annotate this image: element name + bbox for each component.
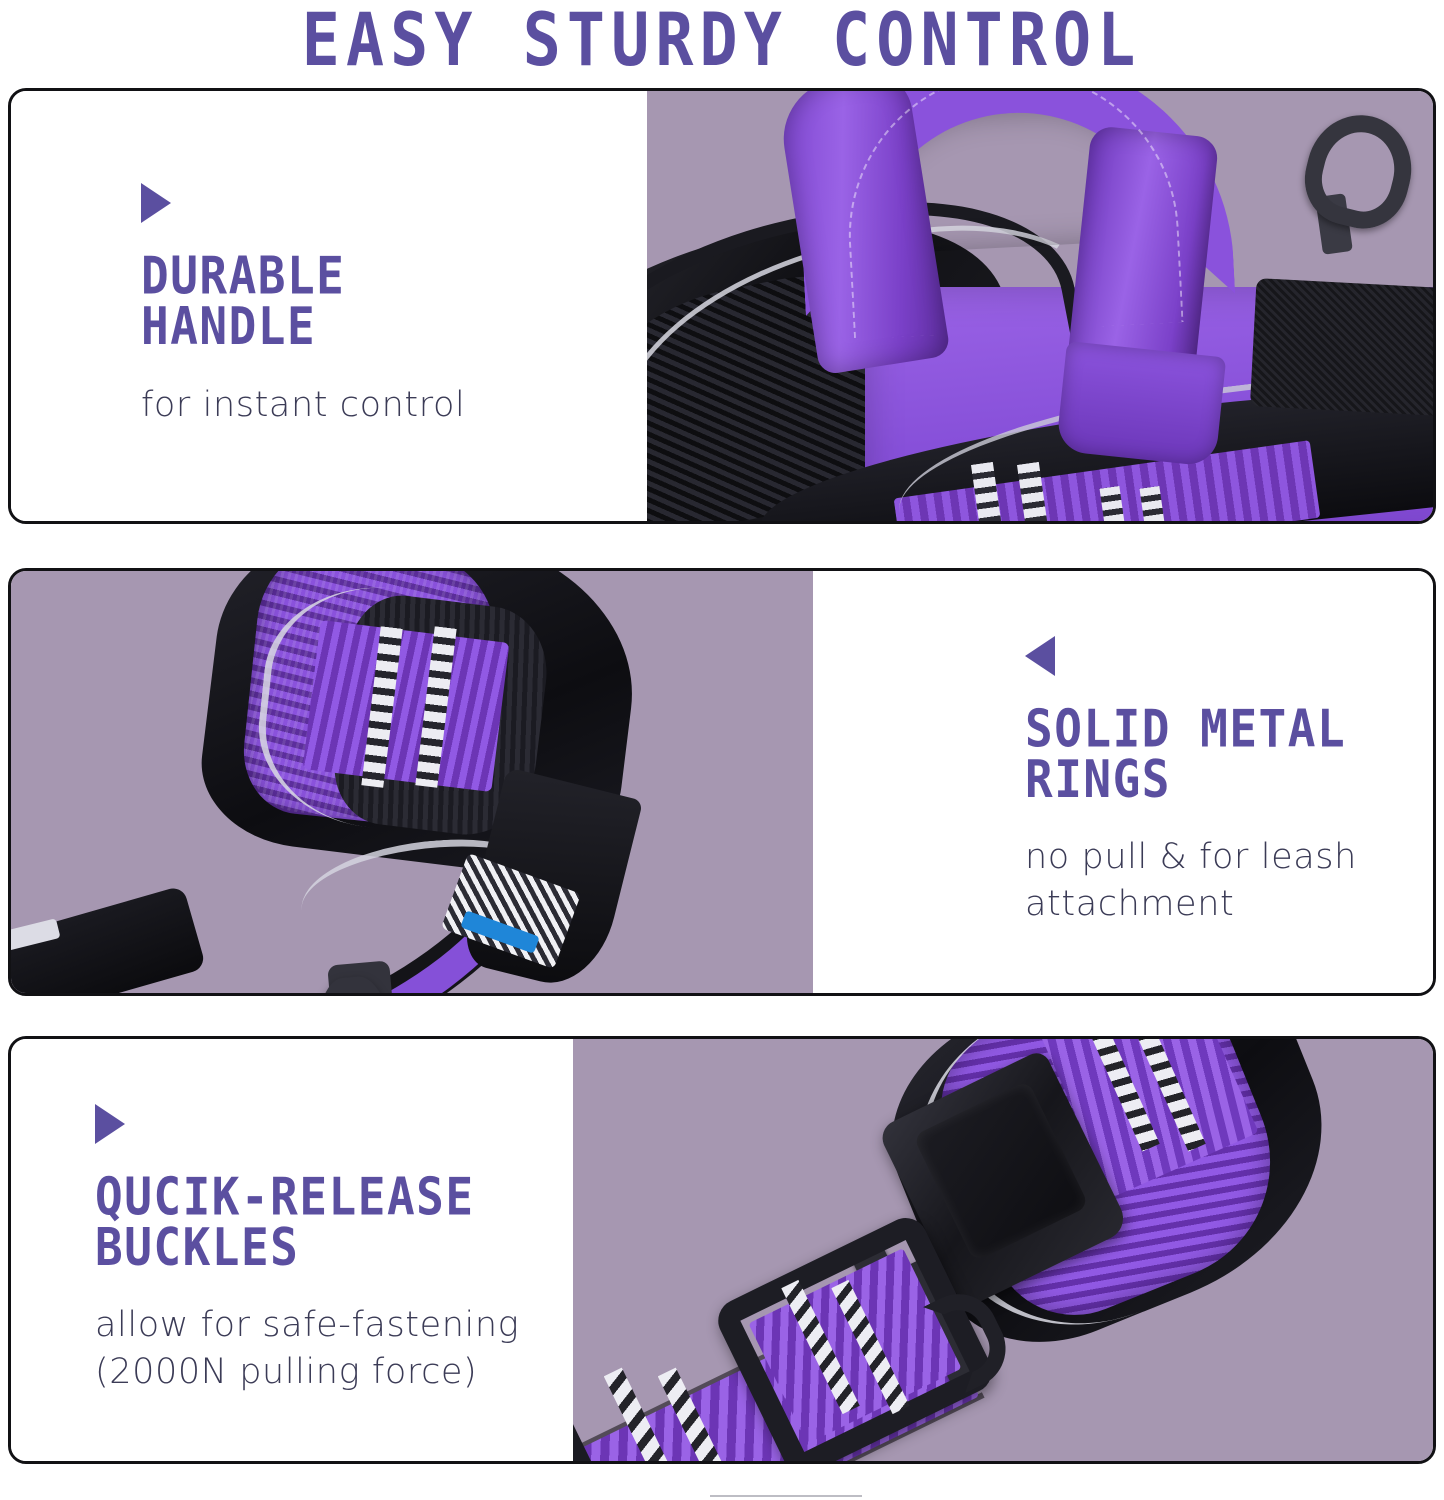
panel-3-headline: QUCIK-RELEASE BUCKLES [95,1172,573,1273]
panel-3-photo [573,1039,1433,1461]
feature-panel-quick-release-buckles: QUCIK-RELEASE BUCKLES allow for safe-fas… [8,1036,1436,1464]
panel-1-headline: DURABLE HANDLE [141,251,647,352]
panel-2-photo [11,571,813,993]
panel-1-photo [647,91,1433,521]
panel-1-subline: for instant control [141,382,647,429]
metal-d-ring-icon [1295,104,1423,238]
grab-handle-tab [1056,341,1227,467]
right-triangle-icon [141,183,171,223]
panel-1-text-block: DURABLE HANDLE for instant control [11,91,647,521]
feature-panel-solid-metal-rings: SOLID METAL RINGS no pull & for leash at… [8,568,1436,996]
harness-velcro-patch [1250,278,1433,428]
page-bottom-rule [710,1495,862,1497]
page-title: EASY STURDY CONTROL [302,3,1142,76]
panel-2-headline: SOLID METAL RINGS [1025,704,1433,805]
panel-2-text-block: SOLID METAL RINGS no pull & for leash at… [813,571,1433,993]
banner-header: EASY STURDY CONTROL [0,0,1444,80]
right-triangle-icon [95,1104,125,1144]
infographic-page: EASY STURDY CONTROL DURABLE HANDLE for i… [0,0,1444,1500]
handle-stitching [840,91,1183,339]
left-triangle-icon [1025,636,1055,676]
feature-panel-durable-handle: DURABLE HANDLE for instant control [8,88,1436,524]
panel-2-subline: no pull & for leash attachment [1025,834,1433,928]
panel-3-subline: allow for safe-fastening (2000N pulling … [95,1302,573,1396]
panel-3-text-block: QUCIK-RELEASE BUCKLES allow for safe-fas… [11,1039,573,1461]
